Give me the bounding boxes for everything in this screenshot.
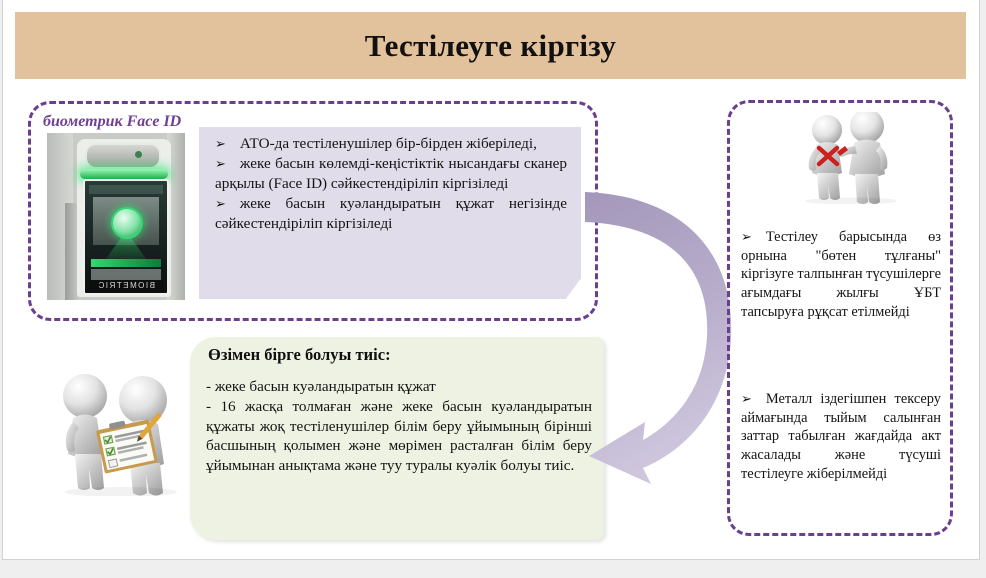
face-id-callout: ➢АТО-да тестіленушілер бір-бірден жібері… (199, 127, 581, 299)
bullet-arrow-icon: ➢ (741, 391, 752, 406)
callout-bullet-3: ➢жеке басын куәландыратын құжат негізінд… (215, 194, 567, 234)
callout-bullet-1: ➢АТО-да тестіленушілер бір-бірден жібері… (215, 134, 567, 154)
bullet-arrow-icon: ➢ (215, 196, 226, 211)
bullet-arrow-icon: ➢ (741, 229, 752, 244)
screen-status-bar (91, 259, 161, 267)
slide-canvas: Тестілеуге кіргізу биометрик Face ID BIO… (2, 0, 980, 560)
slide-root: Тестілеуге кіргізу биометрик Face ID BIO… (0, 0, 986, 578)
required-documents-callout: Өзімен бірге болуы тиіс: - жеке басын ку… (190, 337, 604, 540)
kiosk-camera-lens-icon (135, 151, 142, 158)
right-paragraph-2: ➢Металл іздегішпен тексеру аймағында тый… (741, 390, 941, 484)
screen-topbar (89, 185, 163, 194)
bullet-arrow-icon: ➢ (215, 136, 226, 151)
required-documents-line-2: - 16 жасқа толмаған және жеке басын куәл… (206, 397, 592, 476)
callout-bullet-1-text: АТО-да тестіленушілер бір-бірден жіберіл… (240, 135, 537, 152)
right-paragraph-2-text: Металл іздегішпен тексеру аймағында тыйы… (741, 391, 941, 482)
bullet-arrow-icon: ➢ (215, 156, 226, 171)
callout-bullet-2-text: жеке басын көлемді-кеңістіктік нысандағы… (215, 155, 567, 192)
right-paragraph-1: ➢Тестілеу барысында өз орнына "бөтен тұл… (741, 228, 941, 322)
required-documents-line-1: - жеке басын куәландыратын құжат (206, 377, 592, 397)
face-id-callout-text: ➢АТО-да тестіленушілер бір-бірден жібері… (215, 134, 567, 234)
page-title: Тестілеуге кіргізу (365, 28, 616, 64)
people-checklist-illustration (51, 366, 201, 496)
kiosk-screen: BIOMETRIC (83, 179, 169, 295)
footer-strip (0, 561, 986, 578)
required-documents-body: - жеке басын куәландыратын құжат - 16 жа… (206, 377, 592, 476)
kiosk-camera-bar (85, 143, 161, 169)
biometric-kiosk-photo: BIOMETRIC (47, 133, 185, 300)
biometric-photo-caption: биометрик Face ID (43, 113, 181, 131)
required-documents-title: Өзімен бірге болуы тиіс: (208, 345, 391, 365)
callout-bullet-2: ➢жеке басын көлемді-кеңістіктік нысандағ… (215, 154, 567, 194)
kiosk-green-light (80, 169, 168, 179)
kiosk-brand-label: BIOMETRIC (89, 280, 163, 291)
people-rejected-illustration (791, 112, 915, 204)
screen-face-scan-icon (111, 207, 143, 239)
right-paragraph-1-text: Тестілеу барысында өз орнына "бөтен тұлғ… (741, 229, 941, 320)
callout-bullet-3-text: жеке басын куәландыратын құжат негізінде… (215, 195, 567, 232)
title-banner: Тестілеуге кіргізу (15, 12, 966, 79)
